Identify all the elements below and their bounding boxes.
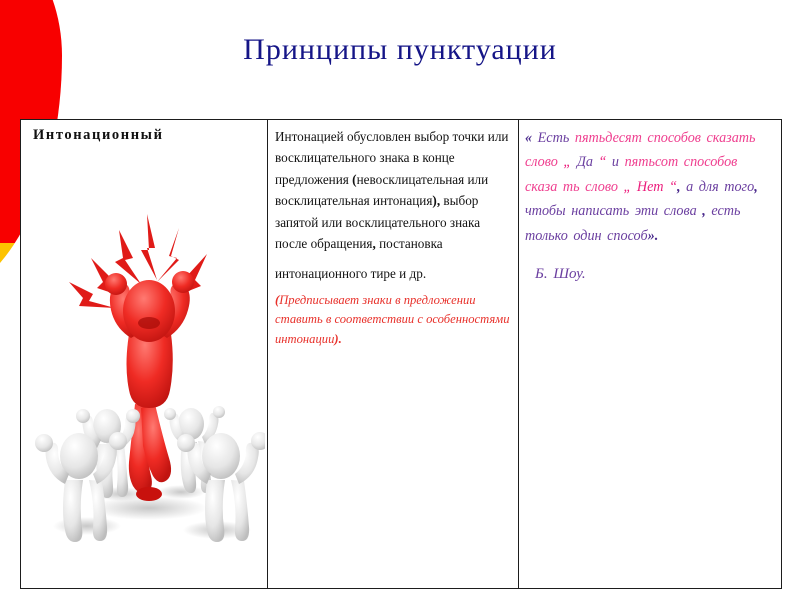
description-part-4: постановка: [376, 236, 443, 251]
quote-comma-2: ,: [754, 179, 758, 195]
table-cell-quote: « Есть пятьдесят способов сказать слово …: [519, 120, 782, 589]
quote-segment-13: только один способ: [525, 228, 648, 244]
quote-segment-12: есть: [706, 203, 741, 219]
principles-table: Интонационный: [20, 119, 782, 589]
quote-segment-11: эти слова: [635, 203, 702, 219]
quote-segment-7: ть слово: [563, 179, 618, 195]
page-title: Принципы пунктуации: [0, 33, 800, 67]
description-text: Интонацией обусловлен выбор точки или во…: [268, 120, 518, 349]
quote-segment-9: а для того: [681, 179, 755, 195]
quote-period: .: [655, 228, 659, 244]
quote-segment-5: и: [606, 154, 619, 170]
description-note-period: .: [339, 332, 342, 346]
quote-high-quote-2: “: [669, 179, 677, 195]
description-tail: интонационного тире и др.: [275, 263, 511, 284]
quote-segment-8: Нет: [631, 179, 669, 195]
quote-segment-4: Да: [571, 154, 598, 170]
description-note: (Предписывает знаки в предложении ставит…: [275, 291, 511, 350]
quote-segment-1: Есть: [532, 130, 569, 146]
table-row: Интонационный: [21, 120, 782, 589]
table-cell-term: Интонационный: [21, 120, 268, 589]
quote-author: Б. Шоу.: [525, 262, 775, 288]
description-note-text: Предписывает знаки в предложении ставить…: [275, 293, 510, 346]
quote-text: « Есть пятьдесят способов сказать слово …: [519, 120, 781, 288]
table-cell-description: Интонацией обусловлен выбор точки или во…: [268, 120, 519, 589]
quote-segment-10: чтобы написать: [525, 203, 629, 219]
quote-close-guillemet: »: [648, 228, 655, 244]
angry-red-3d-figure-with-crowd-illustration: [29, 208, 265, 558]
quote-segment-2: пятьдесят: [569, 130, 642, 146]
term-label: Интонационный: [21, 120, 267, 144]
